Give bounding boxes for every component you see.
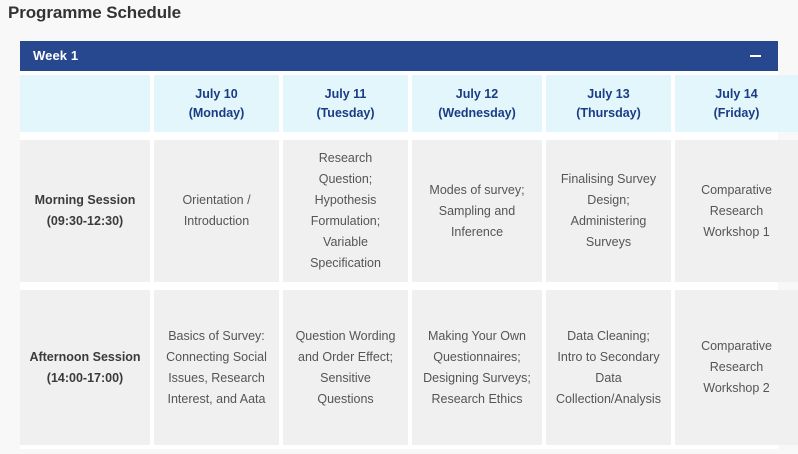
session-cell-afternoon-july-10: Basics of Survey: Connecting Social Issu… bbox=[154, 290, 279, 445]
session-cell-morning-july-12: Modes of survey; Sampling and Inference bbox=[412, 140, 542, 282]
column-header-date: July 14 bbox=[714, 85, 760, 104]
column-header-day: (Monday) bbox=[189, 104, 245, 123]
table-row-afternoon-session: Afternoon Session (14:00-17:00) Basics o… bbox=[20, 286, 778, 449]
programme-schedule-page: Programme Schedule Week 1 July 10 (Monda… bbox=[0, 0, 798, 454]
session-cell-morning-july-10: Orientation / Introduction bbox=[154, 140, 279, 282]
column-header-july-14: July 14 (Friday) bbox=[675, 75, 798, 132]
table-row-morning-session: Morning Session (09:30-12:30) Orientatio… bbox=[20, 136, 778, 286]
column-header-day: (Friday) bbox=[714, 104, 760, 123]
session-label-afternoon: Afternoon Session (14:00-17:00) bbox=[20, 290, 150, 445]
session-label-morning: Morning Session (09:30-12:30) bbox=[20, 140, 150, 282]
session-time: (14:00-17:00) bbox=[29, 368, 140, 389]
schedule-card: Week 1 July 10 (Monday) July 11 (Tuesday… bbox=[20, 41, 778, 449]
session-cell-afternoon-july-12: Making Your Own Questionnaires; Designin… bbox=[412, 290, 542, 445]
column-header-day: (Thursday) bbox=[576, 104, 641, 123]
week-label: Week 1 bbox=[33, 41, 78, 71]
session-name: Afternoon Session bbox=[29, 347, 140, 368]
page-title: Programme Schedule bbox=[8, 2, 181, 24]
column-header-day: (Wednesday) bbox=[438, 104, 516, 123]
session-cell-morning-july-14: Comparative Research Workshop 1 bbox=[675, 140, 798, 282]
session-cell-afternoon-july-13: Data Cleaning; Intro to Secondary Data C… bbox=[546, 290, 671, 445]
column-header-july-12: July 12 (Wednesday) bbox=[412, 75, 542, 132]
session-time: (09:30-12:30) bbox=[35, 211, 136, 232]
week-header-bar: Week 1 bbox=[20, 41, 778, 71]
column-header-day: (Tuesday) bbox=[316, 104, 374, 123]
column-header-date: July 11 bbox=[316, 85, 374, 104]
column-header-july-10: July 10 (Monday) bbox=[154, 75, 279, 132]
schedule-header-row: July 10 (Monday) July 11 (Tuesday) July … bbox=[20, 71, 778, 136]
session-name: Morning Session bbox=[35, 190, 136, 211]
session-cell-morning-july-13: Finalising Survey Design; Administering … bbox=[546, 140, 671, 282]
column-header-date: July 12 bbox=[438, 85, 516, 104]
column-header-july-13: July 13 (Thursday) bbox=[546, 75, 671, 132]
minus-icon[interactable] bbox=[746, 47, 764, 65]
column-header-date: July 10 bbox=[189, 85, 245, 104]
column-header-date: July 13 bbox=[576, 85, 641, 104]
session-cell-morning-july-11: Research Question; Hypothesis Formulatio… bbox=[283, 140, 408, 282]
column-header-july-11: July 11 (Tuesday) bbox=[283, 75, 408, 132]
schedule-corner-cell bbox=[20, 75, 150, 132]
session-cell-afternoon-july-14: Comparative Research Workshop 2 bbox=[675, 290, 798, 445]
session-cell-afternoon-july-11: Question Wording and Order Effect; Sensi… bbox=[283, 290, 408, 445]
minus-icon-bar bbox=[750, 55, 761, 57]
